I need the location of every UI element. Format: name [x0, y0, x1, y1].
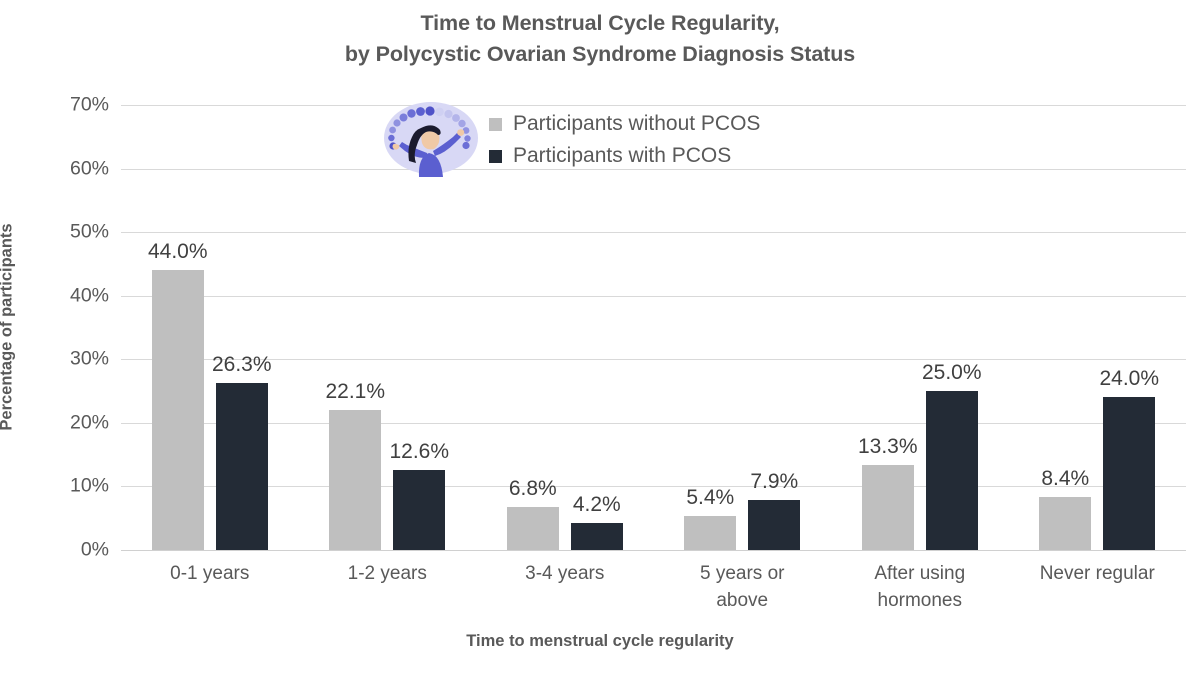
gridline	[121, 550, 1186, 551]
legend-item[interactable]: Participants with PCOS	[489, 140, 760, 172]
bar[interactable]	[684, 516, 736, 550]
bar-value-label: 44.0%	[148, 240, 208, 264]
x-axis-tick-label-line: 5 years or	[654, 560, 832, 587]
bar-value-label: 8.4%	[1041, 467, 1089, 491]
bar[interactable]	[926, 391, 978, 550]
y-axis-tick-label: 0%	[0, 539, 109, 562]
bar[interactable]	[1039, 497, 1091, 550]
x-axis-title: Time to menstrual cycle regularity	[0, 632, 1200, 651]
x-axis-tick-label: 3-4 years	[476, 560, 654, 587]
x-axis-tick-label-line: above	[654, 587, 832, 614]
x-axis-tick-label-line: hormones	[831, 587, 1009, 614]
bar[interactable]	[1103, 397, 1155, 550]
legend-item-label: Participants without PCOS	[513, 112, 760, 136]
legend-item-label: Participants with PCOS	[513, 144, 731, 168]
bar[interactable]	[748, 500, 800, 550]
chart-title-line-2: by Polycystic Ovarian Syndrome Diagnosis…	[0, 39, 1200, 70]
legend-color-swatch	[489, 118, 502, 131]
y-axis-tick-label: 10%	[0, 475, 109, 498]
bar[interactable]	[862, 465, 914, 550]
bar[interactable]	[571, 523, 623, 550]
y-axis-tick-label: 30%	[0, 348, 109, 371]
legend-item[interactable]: Participants without PCOS	[489, 108, 760, 140]
gridline	[121, 423, 1186, 424]
x-axis-tick-label: 0-1 years	[121, 560, 299, 587]
bar[interactable]	[329, 410, 381, 550]
chart-title-line-1: Time to Menstrual Cycle Regularity,	[0, 8, 1200, 39]
bar-value-label: 26.3%	[212, 353, 272, 377]
gridline	[121, 486, 1186, 487]
y-axis-tick-label: 40%	[0, 284, 109, 307]
bar-value-label: 24.0%	[1099, 367, 1159, 391]
x-axis-tick-label: After usinghormones	[831, 560, 1009, 614]
x-axis-tick-label-line: 3-4 years	[476, 560, 654, 587]
x-axis-tick-label-line: After using	[831, 560, 1009, 587]
x-axis-tick-label-line: 0-1 years	[121, 560, 299, 587]
bar[interactable]	[393, 470, 445, 550]
gridline	[121, 359, 1186, 360]
y-axis-tick-label: 50%	[0, 221, 109, 244]
y-axis-tick-label: 20%	[0, 411, 109, 434]
y-axis-tick-label: 70%	[0, 94, 109, 117]
legend-color-swatch	[489, 150, 502, 163]
x-axis-tick-label-line: Never regular	[1009, 560, 1187, 587]
gridline	[121, 296, 1186, 297]
bar[interactable]	[152, 270, 204, 550]
y-axis-tick-label: 60%	[0, 157, 109, 180]
bar-value-label: 6.8%	[509, 477, 557, 501]
page-title: Time to Menstrual Cycle Regularity, by P…	[0, 8, 1200, 70]
bar[interactable]	[507, 507, 559, 550]
bar-value-label: 25.0%	[922, 361, 982, 385]
bar-value-label: 12.6%	[389, 440, 449, 464]
bar-value-label: 22.1%	[325, 380, 385, 404]
x-axis-tick-label: Never regular	[1009, 560, 1187, 587]
gridline	[121, 232, 1186, 233]
x-axis-tick-label-line: 1-2 years	[299, 560, 477, 587]
y-axis-title: Percentage of participants	[0, 223, 17, 430]
gridline	[121, 105, 1186, 106]
woman-with-cycle-dots-illustration	[383, 99, 479, 177]
chart-legend: Participants without PCOSParticipants wi…	[489, 108, 760, 172]
bar-value-label: 7.9%	[750, 470, 798, 494]
bar-value-label: 5.4%	[686, 486, 734, 510]
bar-value-label: 13.3%	[858, 435, 918, 459]
bar[interactable]	[216, 383, 268, 550]
x-axis-tick-label: 5 years orabove	[654, 560, 832, 614]
bar-value-label: 4.2%	[573, 493, 621, 517]
x-axis-tick-label: 1-2 years	[299, 560, 477, 587]
